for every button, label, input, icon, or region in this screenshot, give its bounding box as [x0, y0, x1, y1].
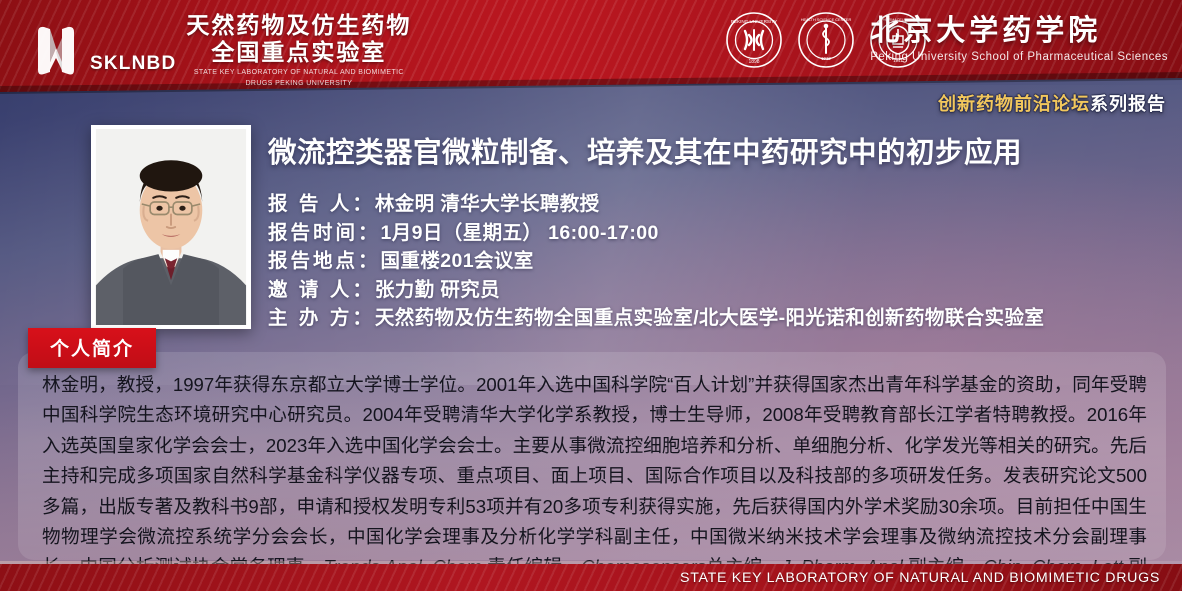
detail-value-time: 1月9日（星期五） 16:00-17:00	[381, 222, 659, 244]
detail-row-organizer: 主 办 方：天然药物及仿生药物全国重点实验室/北大医学-阳光诺和创新药物联合实验…	[268, 304, 1178, 333]
detail-row-speaker: 报 告 人：林金明 清华大学长聘教授	[268, 190, 1178, 219]
detail-value-host: 张力勤 研究员	[375, 279, 500, 301]
series-banner-highlight: 创新药物前沿论坛	[938, 94, 1090, 114]
svg-text:1898: 1898	[748, 59, 759, 65]
svg-text:1912: 1912	[821, 56, 831, 61]
seminar-poster: SKLNBD 天然药物及仿生药物 全国重点实验室 STATE KEY LABOR…	[0, 0, 1182, 591]
lab-name-line2: 全国重点实验室	[211, 39, 386, 66]
lab-name-line1: 天然药物及仿生药物	[186, 12, 411, 39]
bio-run: 林金明，教授，1997年获得东京都立大学博士学位。2001年入选中国科学院“百人…	[42, 374, 1147, 577]
talk-details: 报 告 人：林金明 清华大学长聘教授 报告时间：1月9日（星期五） 16:00-…	[268, 190, 1178, 333]
detail-label-organizer: 主 办 方：	[268, 307, 375, 329]
detail-row-location: 报告地点：国重楼201会议室	[268, 247, 1178, 276]
peking-university-seal-icon: PEKING UNIVERSITY 1898	[725, 11, 783, 69]
series-banner-tail: 系列报告	[1090, 94, 1166, 114]
detail-row-host: 邀 请 人：张力勤 研究员	[268, 276, 1178, 305]
svg-text:PEKING UNIVERSITY: PEKING UNIVERSITY	[731, 19, 777, 24]
speaker-portrait	[91, 125, 251, 329]
lab-abbr: SKLNBD	[90, 53, 176, 75]
university-name-cn: 北京大学药学院	[870, 14, 1168, 48]
detail-label-location: 报告地点：	[268, 250, 381, 272]
university-name-block: 北京大学药学院 Peking University School of Phar…	[870, 14, 1168, 63]
lab-name-en-line1: STATE KEY LABORATORY OF NATURAL AND BIOM…	[194, 68, 404, 77]
lab-name-en-line2: DRUGS PEKING UNIVERSITY	[245, 79, 352, 88]
talk-title: 微流控类器官微粒制备、培养及其在中药研究中的初步应用	[268, 134, 1173, 172]
lab-name-block: 天然药物及仿生药物 全国重点实验室 STATE KEY LABORATORY O…	[186, 12, 411, 88]
detail-label-host: 邀 请 人：	[268, 279, 375, 301]
svg-text:HEALTH SCIENCE CENTER: HEALTH SCIENCE CENTER	[801, 17, 852, 22]
detail-label-time: 报告时间：	[268, 222, 381, 244]
detail-value-location: 国重楼201会议室	[381, 250, 534, 272]
university-name-en: Peking University School of Pharmaceutic…	[870, 51, 1168, 63]
detail-label-speaker: 报 告 人：	[268, 193, 375, 215]
bio-text: 林金明，教授，1997年获得东京都立大学博士学位。2001年入选中国科学院“百人…	[42, 370, 1147, 591]
lab-abbr-column: SKLNBD	[90, 23, 176, 75]
detail-row-time: 报告时间：1月9日（星期五） 16:00-17:00	[268, 219, 1178, 248]
bio-badge: 个人简介	[28, 328, 156, 368]
detail-value-speaker: 林金明 清华大学长聘教授	[375, 193, 600, 215]
footer-bar: STATE KEY LABORATORY OF NATURAL AND BIOM…	[0, 564, 1182, 591]
footer-text: STATE KEY LABORATORY OF NATURAL AND BIOM…	[680, 570, 1160, 586]
peking-university-health-science-center-seal-icon: HEALTH SCIENCE CENTER 1912	[797, 11, 855, 69]
lab-logo-block: SKLNBD 天然药物及仿生药物 全国重点实验室 STATE KEY LABOR…	[28, 10, 411, 88]
series-banner: 创新药物前沿论坛系列报告	[938, 90, 1166, 116]
sklnbd-monogram-icon	[28, 18, 84, 80]
detail-value-organizer: 天然药物及仿生药物全国重点实验室/北大医学-阳光诺和创新药物联合实验室	[375, 307, 1044, 329]
